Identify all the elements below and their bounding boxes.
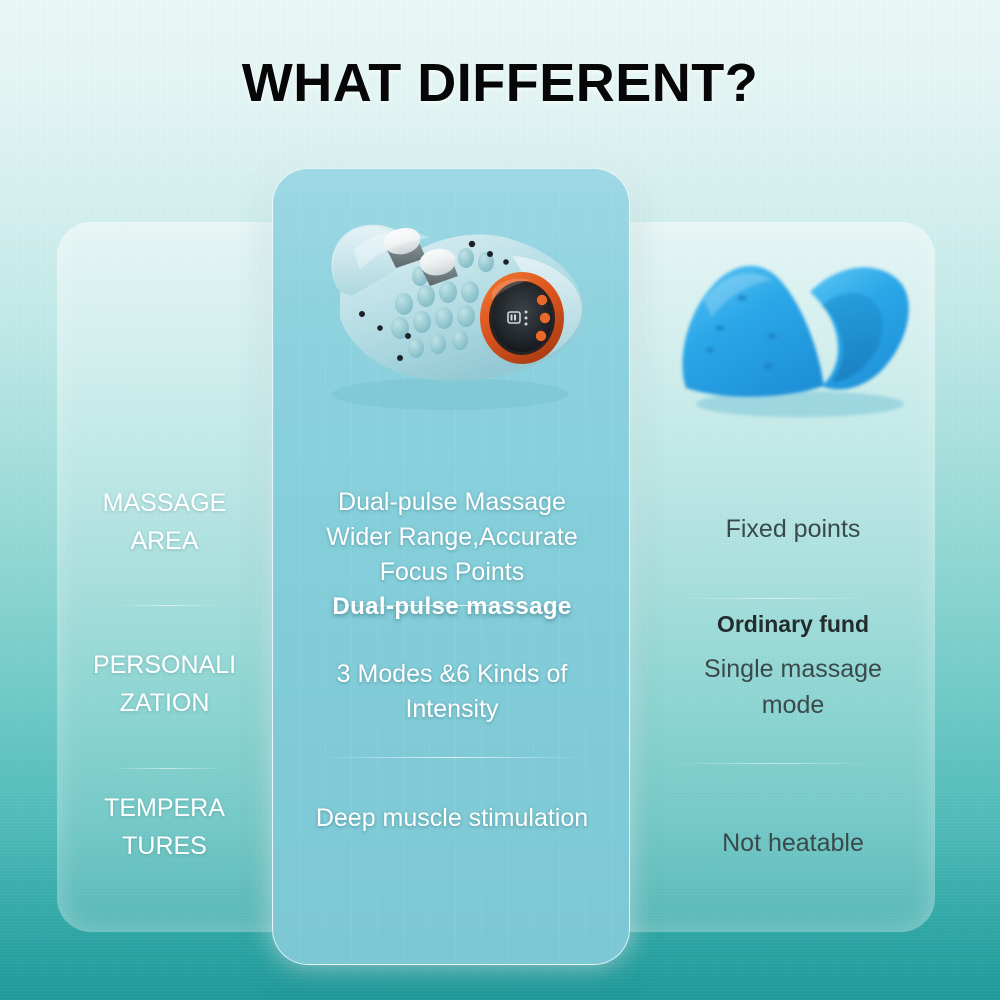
feature-label-line1: TEMPERA (62, 789, 267, 827)
highlighted-value-temperatures: Deep muscle stimulation (273, 801, 630, 836)
ordinary-value-temperatures: Not heatable (648, 825, 938, 861)
value-line1: Single massage (648, 651, 938, 687)
feature-label-personalization: PERSONALI ZATION (62, 646, 267, 722)
feature-divider-2 (114, 768, 222, 769)
feature-label-line1: PERSONALI (62, 646, 267, 684)
value-line2: Wider Range,Accurate (273, 520, 630, 555)
value-line1: Dual-pulse Massage (273, 485, 630, 520)
feature-label-column: MASSAGE AREA PERSONALI ZATION TEMPERA TU… (62, 240, 267, 920)
ordinary-product-column: Ordinary fund Fixed points Single massag… (648, 168, 938, 958)
value-line1: 3 Modes &6 Kinds of (273, 657, 630, 692)
feature-label-line1: MASSAGE (62, 484, 267, 522)
control-button-2 (540, 313, 550, 323)
value-line2: mode (648, 687, 938, 723)
right-divider-2 (676, 763, 871, 764)
dual-pulse-neck-massager-image (300, 196, 600, 416)
feature-label-massage-area: MASSAGE AREA (62, 484, 267, 560)
feature-divider-1 (114, 605, 222, 606)
card-divider-2 (317, 757, 587, 758)
feature-label-temperatures: TEMPERA TURES (62, 789, 267, 865)
value-line2: Intensity (273, 692, 630, 727)
highlighted-value-personalization: 3 Modes &6 Kinds of Intensity (273, 657, 630, 727)
value-line1: Fixed points (648, 511, 938, 547)
feature-label-line2: AREA (62, 522, 267, 560)
page-title: WHAT DIFFERENT? (0, 52, 1000, 114)
feature-label-line2: TURES (62, 827, 267, 865)
feature-label-line2: ZATION (62, 684, 267, 722)
value-line1: Not heatable (648, 825, 938, 861)
card-divider-1 (317, 605, 587, 606)
ordinary-product-heading: Ordinary fund (648, 611, 938, 638)
control-button-3 (536, 331, 546, 341)
highlighted-value-massage-area: Dual-pulse Massage Wider Range,Accurate … (273, 485, 630, 590)
ordinary-value-massage-area: Fixed points (648, 511, 938, 547)
control-button-1 (537, 295, 547, 305)
value-line3: Focus Points (273, 555, 630, 590)
right-divider-1 (676, 598, 871, 599)
highlighted-product-heading: Dual-pulse massage (273, 593, 630, 621)
ordinary-value-personalization: Single massage mode (648, 651, 938, 723)
dual-pulse-neck-massager-svg (300, 196, 600, 416)
product-shadow (332, 378, 568, 410)
control-module (480, 272, 564, 364)
value-line1: Deep muscle stimulation (273, 801, 630, 836)
